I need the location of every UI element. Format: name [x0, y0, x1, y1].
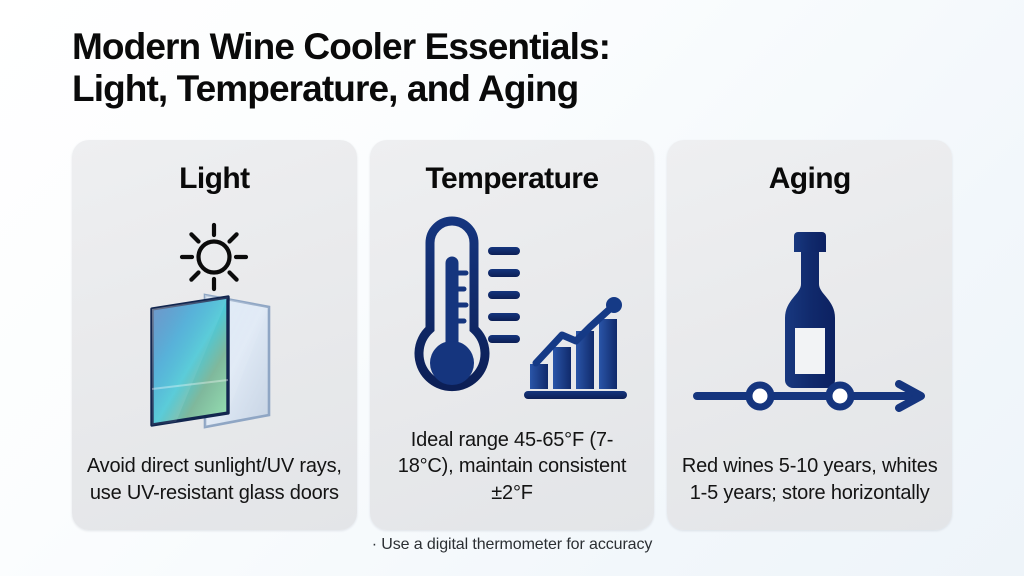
cards-row: Light: [72, 140, 952, 530]
timeline-marker-2: [829, 385, 851, 407]
thermometer-icon: [419, 221, 485, 387]
card-light-heading: Light: [179, 162, 249, 195]
trend-endpoint-icon: [606, 297, 622, 313]
sun-and-glass-panels-icon: [104, 217, 324, 432]
card-aging-icon-area: [681, 195, 938, 453]
title-line-2: Light, Temperature, and Aging: [72, 68, 772, 110]
card-aging[interactable]: Aging: [667, 140, 952, 530]
card-temperature-body: Ideal range 45-65°F (7-18°C), maintain c…: [384, 427, 641, 510]
card-light[interactable]: Light: [72, 140, 357, 530]
card-temperature-heading: Temperature: [426, 162, 599, 195]
card-aging-body: Red wines 5-10 years, whites 1-5 years; …: [681, 453, 938, 510]
infographic-slide: Modern Wine Cooler Essentials: Light, Te…: [0, 0, 1024, 576]
title-line-1: Modern Wine Cooler Essentials:: [72, 26, 772, 68]
card-temperature[interactable]: Temperature: [370, 140, 655, 530]
footer-note: · Use a digital thermometer for accuracy: [0, 536, 1024, 554]
card-temperature-icon-area: [384, 195, 641, 427]
sun-icon: [182, 225, 246, 289]
wine-bottle-icon: [785, 232, 835, 388]
page-title: Modern Wine Cooler Essentials: Light, Te…: [72, 26, 772, 110]
card-light-icon-area: [86, 195, 343, 453]
card-light-body: Avoid direct sunlight/UV rays, use UV-re…: [86, 453, 343, 510]
thermometer-and-bar-chart-icon: [390, 211, 635, 411]
bar-chart-icon: [524, 297, 627, 399]
bottle-label-icon: [795, 328, 825, 374]
temperature-ticks-icon: [488, 247, 520, 343]
timeline-marker-1: [749, 385, 771, 407]
card-aging-heading: Aging: [769, 162, 851, 195]
chart-baseline-icon: [524, 391, 627, 399]
wine-bottle-timeline-icon: [685, 224, 935, 424]
glass-panel-front-icon: [152, 297, 228, 425]
